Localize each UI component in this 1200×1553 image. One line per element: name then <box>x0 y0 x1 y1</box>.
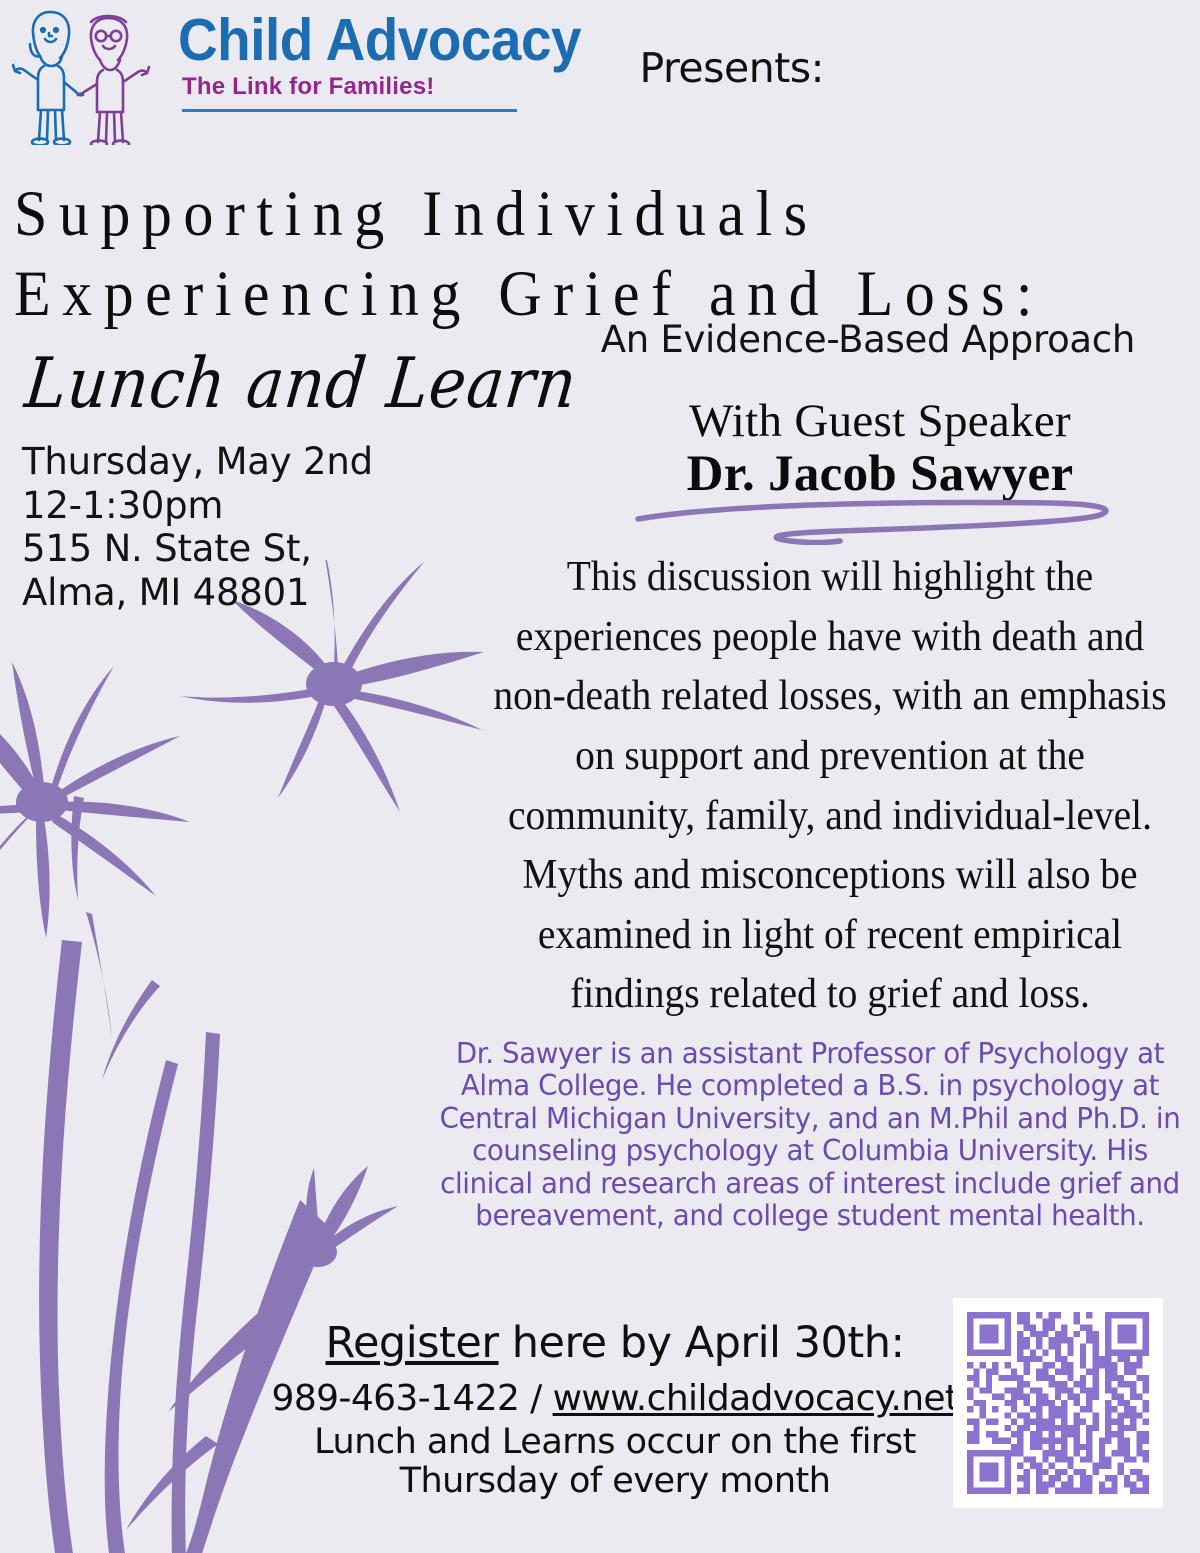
register-heading-rest: here by April 30th: <box>499 1318 905 1368</box>
phone-number[interactable]: 989-463-1422 <box>272 1378 520 1419</box>
event-date: Thursday, May 2nd <box>22 440 573 484</box>
register-heading: Register here by April 30th: <box>270 1318 960 1368</box>
event-time: 12-1:30pm <box>22 484 573 528</box>
flyer-page: Child Advocacy The Link for Families! Pr… <box>0 0 1200 1553</box>
logo-text-block: Child Advocacy The Link for Families! <box>178 12 611 112</box>
logo-name: Child Advocacy <box>178 12 581 69</box>
two-children-holding-hands-icon <box>12 0 172 145</box>
description-paragraph: This discussion will highlight the exper… <box>482 548 1178 1025</box>
website-link[interactable]: www.childadvocacy.net <box>553 1378 959 1419</box>
contact-separator: / <box>519 1378 552 1419</box>
flyer-header: Child Advocacy The Link for Families! Pr… <box>0 0 1200 150</box>
qr-code-container[interactable] <box>953 1298 1163 1508</box>
registration-block: Register here by April 30th: 989-463-142… <box>270 1318 960 1501</box>
speaker-name: Dr. Jacob Sawyer <box>600 448 1160 502</box>
recurrence-note-line-1: Lunch and Learns occur on the first <box>270 1423 960 1462</box>
speaker-intro: With Guest Speaker <box>600 398 1160 446</box>
register-contact-line: 989-463-1422 / www.childadvocacy.net <box>270 1378 960 1419</box>
recurrence-note: Lunch and Learns occur on the first Thur… <box>270 1423 960 1501</box>
decorative-swoosh-underline <box>630 497 1130 545</box>
logo-tagline: The Link for Families! <box>182 73 611 101</box>
lunch-and-learn-heading: Lunch and Learn <box>22 349 580 418</box>
title-line-1: Supporting Individuals <box>0 172 1200 257</box>
logo-underline-rule <box>182 109 517 112</box>
guest-speaker-block: With Guest Speaker Dr. Jacob Sawyer <box>600 398 1160 545</box>
recurrence-note-line-2: Thursday of every month <box>270 1462 960 1501</box>
speaker-bio-paragraph: Dr. Sawyer is an assistant Professor of … <box>432 1038 1189 1233</box>
qr-code[interactable] <box>967 1312 1149 1494</box>
register-link-word[interactable]: Register <box>326 1318 499 1368</box>
presents-label: Presents: <box>639 44 824 92</box>
page-title: Supporting Individuals Experiencing Grie… <box>0 172 1200 332</box>
